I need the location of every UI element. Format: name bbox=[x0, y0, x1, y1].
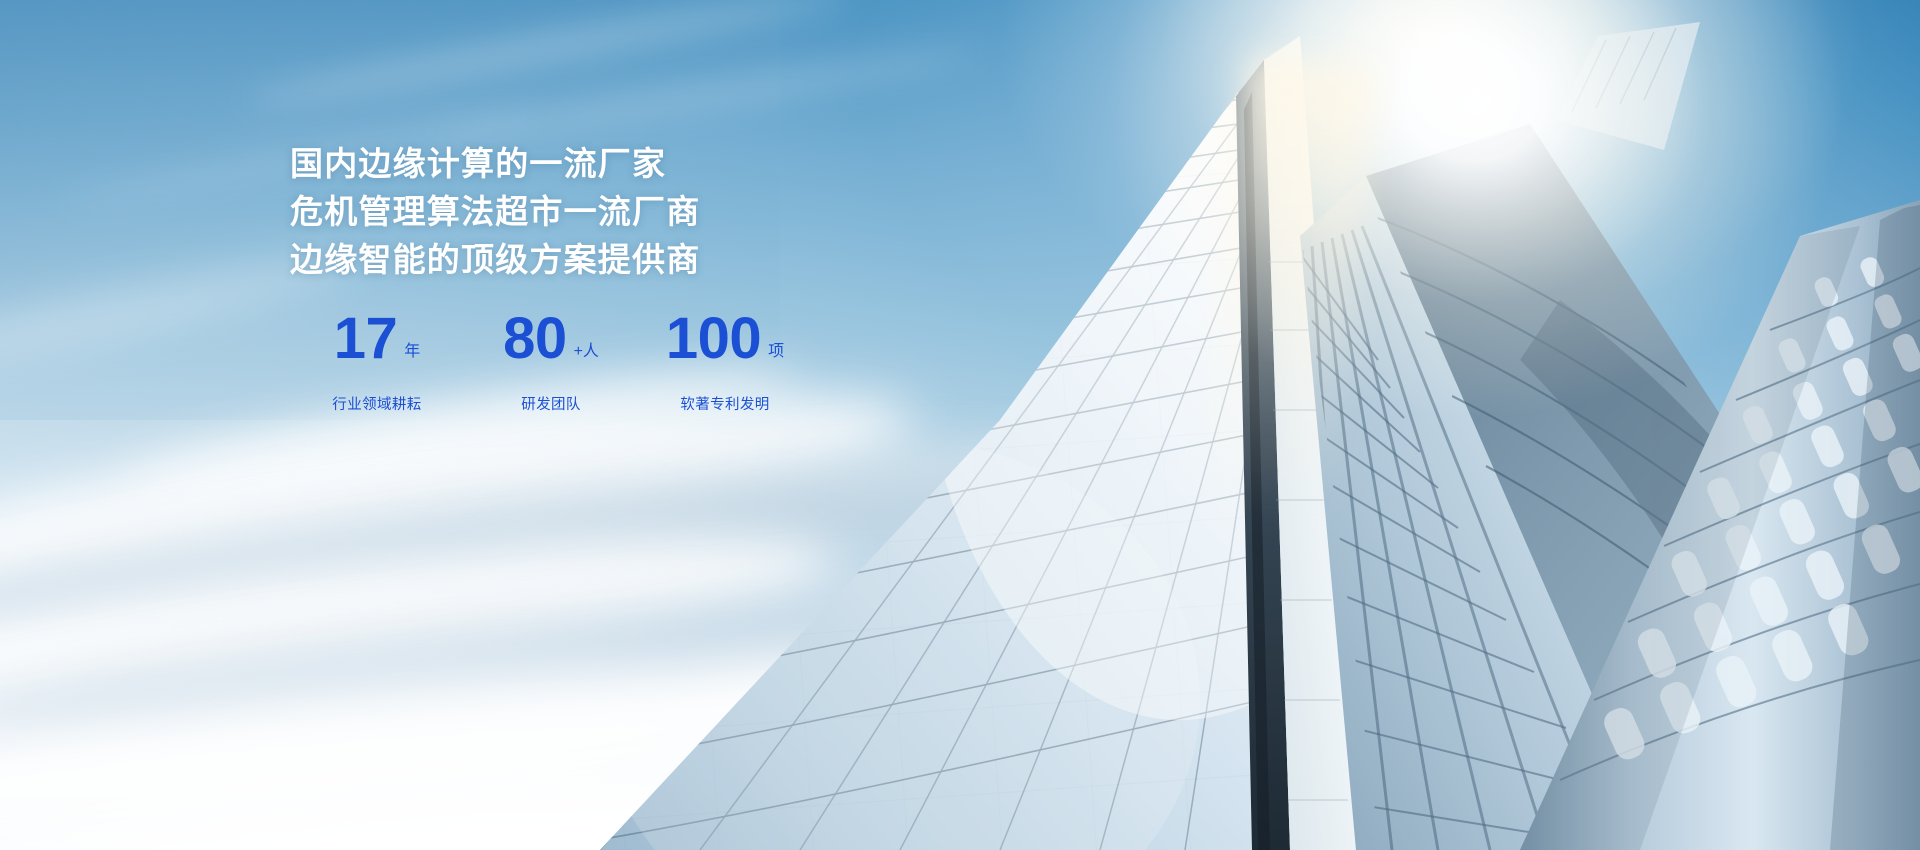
stat-item-patents: 100 项 软著专利发明 bbox=[638, 310, 812, 414]
headline-line-3: 边缘智能的顶级方案提供商 bbox=[290, 236, 1030, 284]
stat-item-years: 17 年 行业领域耕耘 bbox=[290, 310, 464, 414]
stat-value-row: 80 +人 bbox=[464, 310, 638, 368]
skyscraper-photo bbox=[0, 0, 1920, 850]
stat-number: 80 bbox=[503, 310, 567, 368]
headline-line-2: 危机管理算法超市一流厂商 bbox=[290, 188, 1030, 236]
headline-line-1: 国内边缘计算的一流厂家 bbox=[290, 140, 1030, 188]
stat-unit: 项 bbox=[768, 337, 784, 361]
hero-banner: 国内边缘计算的一流厂家 危机管理算法超市一流厂商 边缘智能的顶级方案提供商 17… bbox=[0, 0, 1920, 850]
background-tower-sliver bbox=[1556, 22, 1700, 150]
stat-caption: 研发团队 bbox=[464, 393, 638, 414]
stat-value-row: 100 项 bbox=[638, 310, 812, 368]
stat-number: 17 bbox=[334, 310, 398, 368]
hero-content: 国内边缘计算的一流厂家 危机管理算法超市一流厂商 边缘智能的顶级方案提供商 17… bbox=[290, 140, 1030, 414]
stat-unit: +人 bbox=[574, 337, 599, 361]
stat-unit: 年 bbox=[404, 337, 420, 361]
stat-number: 100 bbox=[666, 310, 761, 368]
stat-caption: 行业领域耕耘 bbox=[290, 393, 464, 414]
stats-row: 17 年 行业领域耕耘 80 +人 研发团队 100 项 软著专利发明 bbox=[290, 310, 1030, 414]
stat-caption: 软著专利发明 bbox=[638, 393, 812, 414]
stat-value-row: 17 年 bbox=[290, 310, 464, 368]
stat-item-team: 80 +人 研发团队 bbox=[464, 310, 638, 414]
headline-block: 国内边缘计算的一流厂家 危机管理算法超市一流厂商 边缘智能的顶级方案提供商 bbox=[290, 140, 1030, 284]
